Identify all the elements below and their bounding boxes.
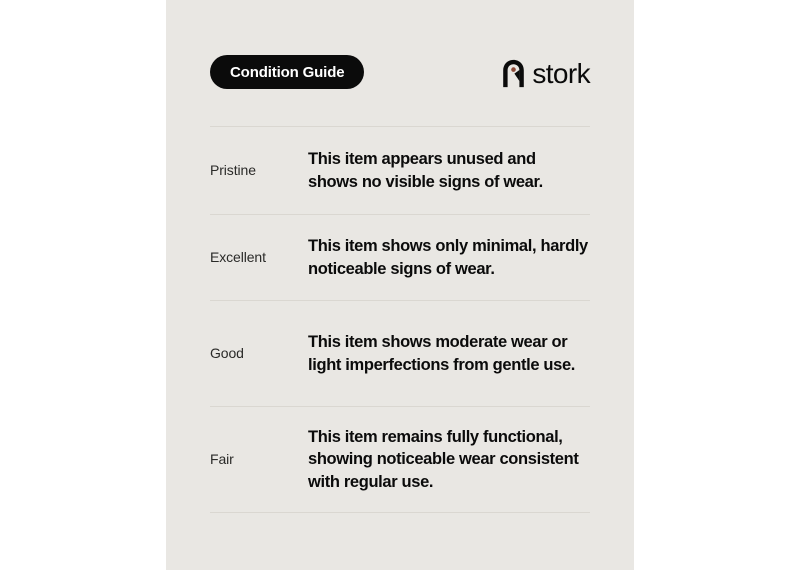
condition-label: Good (210, 345, 308, 363)
table-row: Excellent This item shows only minimal, … (210, 214, 590, 300)
condition-label: Fair (210, 451, 308, 469)
table-row: Fair This item remains fully functional,… (210, 406, 590, 513)
card-header: Condition Guide stork (210, 55, 590, 95)
condition-label: Excellent (210, 249, 308, 267)
screenshot-root: Condition Guide stork Pristine This item… (0, 0, 800, 570)
table-row: Good This item shows moderate wear or li… (210, 300, 590, 406)
brand-name: stork (532, 60, 590, 88)
condition-description: This item shows moderate wear or light i… (308, 331, 590, 375)
condition-description: This item shows only minimal, hardly not… (308, 235, 590, 279)
condition-table: Pristine This item appears unused and sh… (210, 126, 590, 513)
condition-description: This item remains fully functional, show… (308, 426, 590, 492)
condition-guide-card: Condition Guide stork Pristine This item… (166, 0, 634, 570)
table-row: Pristine This item appears unused and sh… (210, 126, 590, 214)
stork-arch-logo-icon (502, 59, 525, 88)
condition-description: This item appears unused and shows no vi… (308, 148, 590, 192)
condition-label: Pristine (210, 162, 308, 180)
condition-guide-badge: Condition Guide (210, 55, 364, 89)
brand-logo: stork (502, 56, 590, 90)
